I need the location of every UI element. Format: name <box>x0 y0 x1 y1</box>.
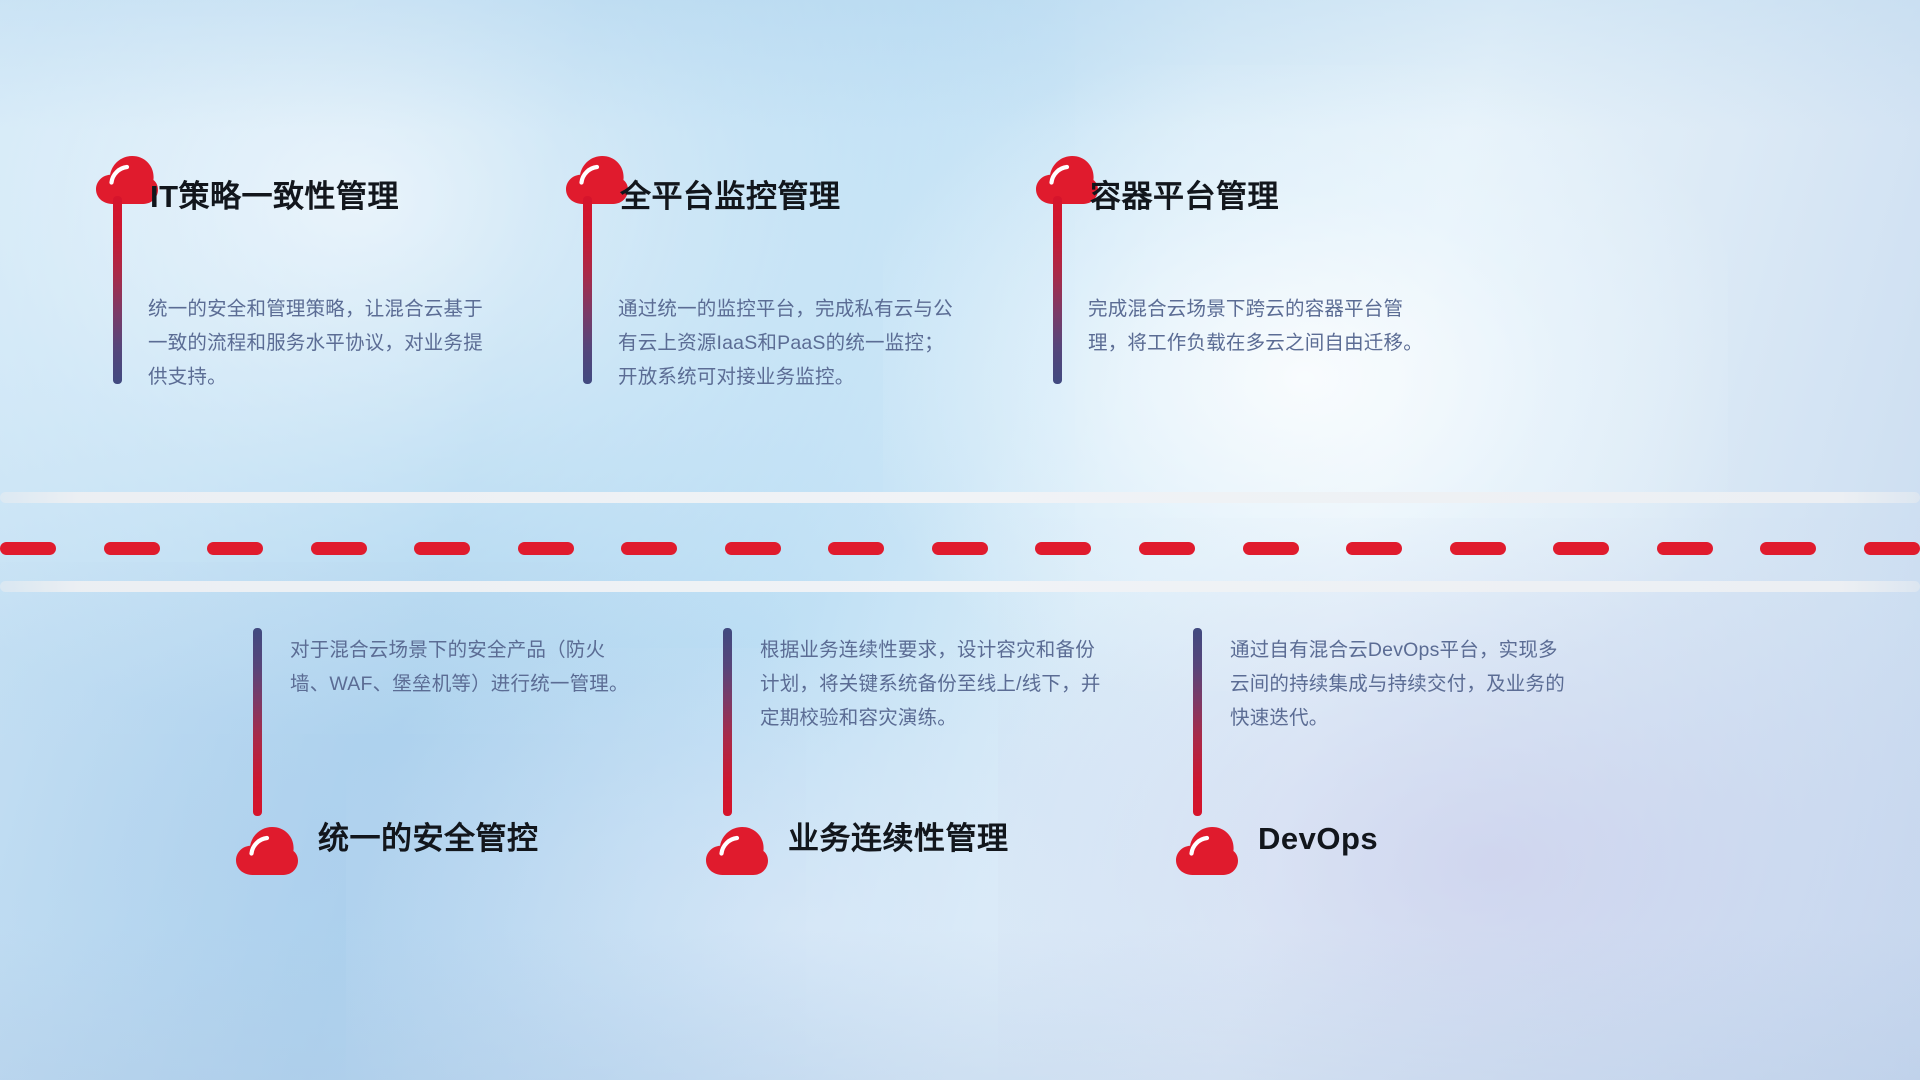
card-title: IT策略一致性管理 <box>150 178 399 215</box>
road-dash <box>828 542 884 555</box>
card-title: 业务连续性管理 <box>788 820 1009 857</box>
card-body: 根据业务连续性要求，设计容灾和备份计划，将关键系统备份至线上/线下，并定期校验和… <box>760 633 1105 735</box>
road-dash <box>1450 542 1506 555</box>
road-dash <box>1864 542 1920 555</box>
card-body: 通过自有混合云DevOps平台，实现多云间的持续集成与持续交付，及业务的快速迭代… <box>1230 633 1575 735</box>
card-title: 容器平台管理 <box>1090 178 1279 215</box>
connector-stem <box>1053 196 1062 384</box>
card-title: DevOps <box>1258 820 1378 857</box>
cloud-icon <box>235 826 299 876</box>
road-band-upper <box>0 492 1920 503</box>
card-body: 统一的安全和管理策略，让混合云基于一致的流程和服务水平协议，对业务提供支持。 <box>148 292 493 394</box>
connector-stem <box>583 196 592 384</box>
connector-stem <box>723 628 732 816</box>
road-dash <box>1035 542 1091 555</box>
road-dash <box>1657 542 1713 555</box>
road-dash <box>207 542 263 555</box>
road-dash <box>1760 542 1816 555</box>
road-dash <box>104 542 160 555</box>
road-dash <box>1139 542 1195 555</box>
road-dash <box>0 542 56 555</box>
connector-stem <box>253 628 262 816</box>
connector-stem <box>113 196 122 384</box>
card-title: 全平台监控管理 <box>620 178 841 215</box>
road-dash <box>932 542 988 555</box>
card-title: 统一的安全管控 <box>318 820 539 857</box>
card-body: 通过统一的监控平台，完成私有云与公有云上资源IaaS和PaaS的统一监控；开放系… <box>618 292 963 394</box>
road-dash <box>1553 542 1609 555</box>
road-dash <box>621 542 677 555</box>
road-dash <box>518 542 574 555</box>
road-dash <box>725 542 781 555</box>
connector-stem <box>1193 628 1202 816</box>
cloud-icon <box>705 826 769 876</box>
card-body: 完成混合云场景下跨云的容器平台管理，将工作负载在多云之间自由迁移。 <box>1088 292 1433 360</box>
card-body: 对于混合云场景下的安全产品（防火墙、WAF、堡垒机等）进行统一管理。 <box>290 633 635 701</box>
road-dash <box>414 542 470 555</box>
road-dash <box>1243 542 1299 555</box>
road-dash <box>1346 542 1402 555</box>
background-vignette <box>0 0 1920 1080</box>
infographic-canvas: IT策略一致性管理 统一的安全和管理策略，让混合云基于一致的流程和服务水平协议，… <box>0 0 1920 1080</box>
road-dash <box>311 542 367 555</box>
cloud-icon <box>1175 826 1239 876</box>
road-band-lower <box>0 581 1920 592</box>
road-dashed-centerline <box>0 541 1920 555</box>
